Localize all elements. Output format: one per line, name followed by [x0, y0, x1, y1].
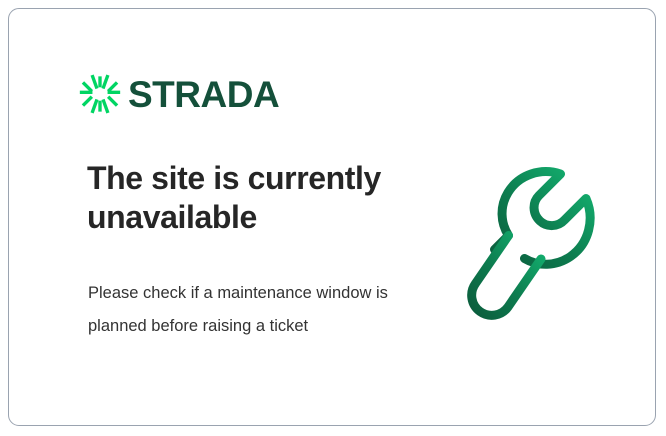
status-description: Please check if a maintenance window is … [88, 277, 398, 343]
asterisk-logo-icon [79, 73, 121, 115]
wrench-icon [461, 157, 629, 329]
brand-logo: STRADA [79, 73, 279, 115]
page-title: The site is currently unavailable [87, 159, 427, 237]
brand-wordmark: STRADA [128, 76, 279, 113]
status-card: STRADA The site is currently unavailable… [8, 8, 656, 426]
